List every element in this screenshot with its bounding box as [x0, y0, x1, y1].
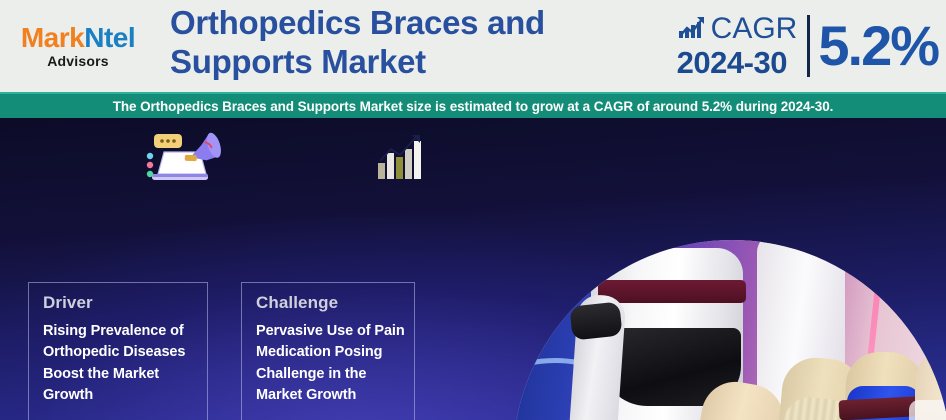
cagr-left: CAGR 2024-30	[677, 14, 808, 78]
arm-brace	[569, 301, 622, 340]
challenge-card-title: Challenge	[256, 293, 338, 313]
page-title: Orthopedics Braces and Supports Market	[170, 4, 640, 81]
challenge-card: Challenge Pervasive Use of Pain Medicati…	[241, 282, 415, 420]
orthopedic-device	[909, 400, 946, 420]
cagr-label: CAGR	[711, 14, 798, 44]
cagr-period: 2024-30	[677, 47, 798, 78]
cagr-block: CAGR 2024-30 5.2%	[677, 8, 938, 84]
product-photo	[513, 240, 946, 420]
growth-chart-icon	[677, 14, 707, 44]
body-area: Driver Rising Prevalence of Orthopedic D…	[0, 118, 946, 420]
header: MarkNtel Advisors Orthopedics Braces and…	[0, 0, 946, 92]
product-photo-inner	[513, 240, 946, 420]
infographic-banner: MarkNtel Advisors Orthopedics Braces and…	[0, 0, 946, 420]
logo-tagline: Advisors	[12, 54, 144, 68]
driver-card: Driver Rising Prevalence of Orthopedic D…	[28, 282, 208, 420]
cagr-value: 5.2%	[810, 18, 938, 74]
market-summary-banner: The Orthopedics Braces and Supports Mark…	[0, 92, 946, 118]
company-logo[interactable]: MarkNtel Advisors	[12, 24, 144, 68]
logo-wordmark: MarkNtel	[12, 24, 144, 52]
driver-card-title: Driver	[43, 293, 93, 313]
cagr-top-row: CAGR	[677, 14, 798, 44]
back-support-belt	[598, 280, 746, 303]
driver-card-text: Rising Prevalence of Orthopedic Diseases…	[43, 321, 199, 406]
logo-ntel-text: Ntel	[84, 22, 135, 53]
challenge-card-text: Pervasive Use of Pain Medication Posing …	[256, 321, 406, 406]
logo-mark-text: Mark	[21, 22, 84, 53]
